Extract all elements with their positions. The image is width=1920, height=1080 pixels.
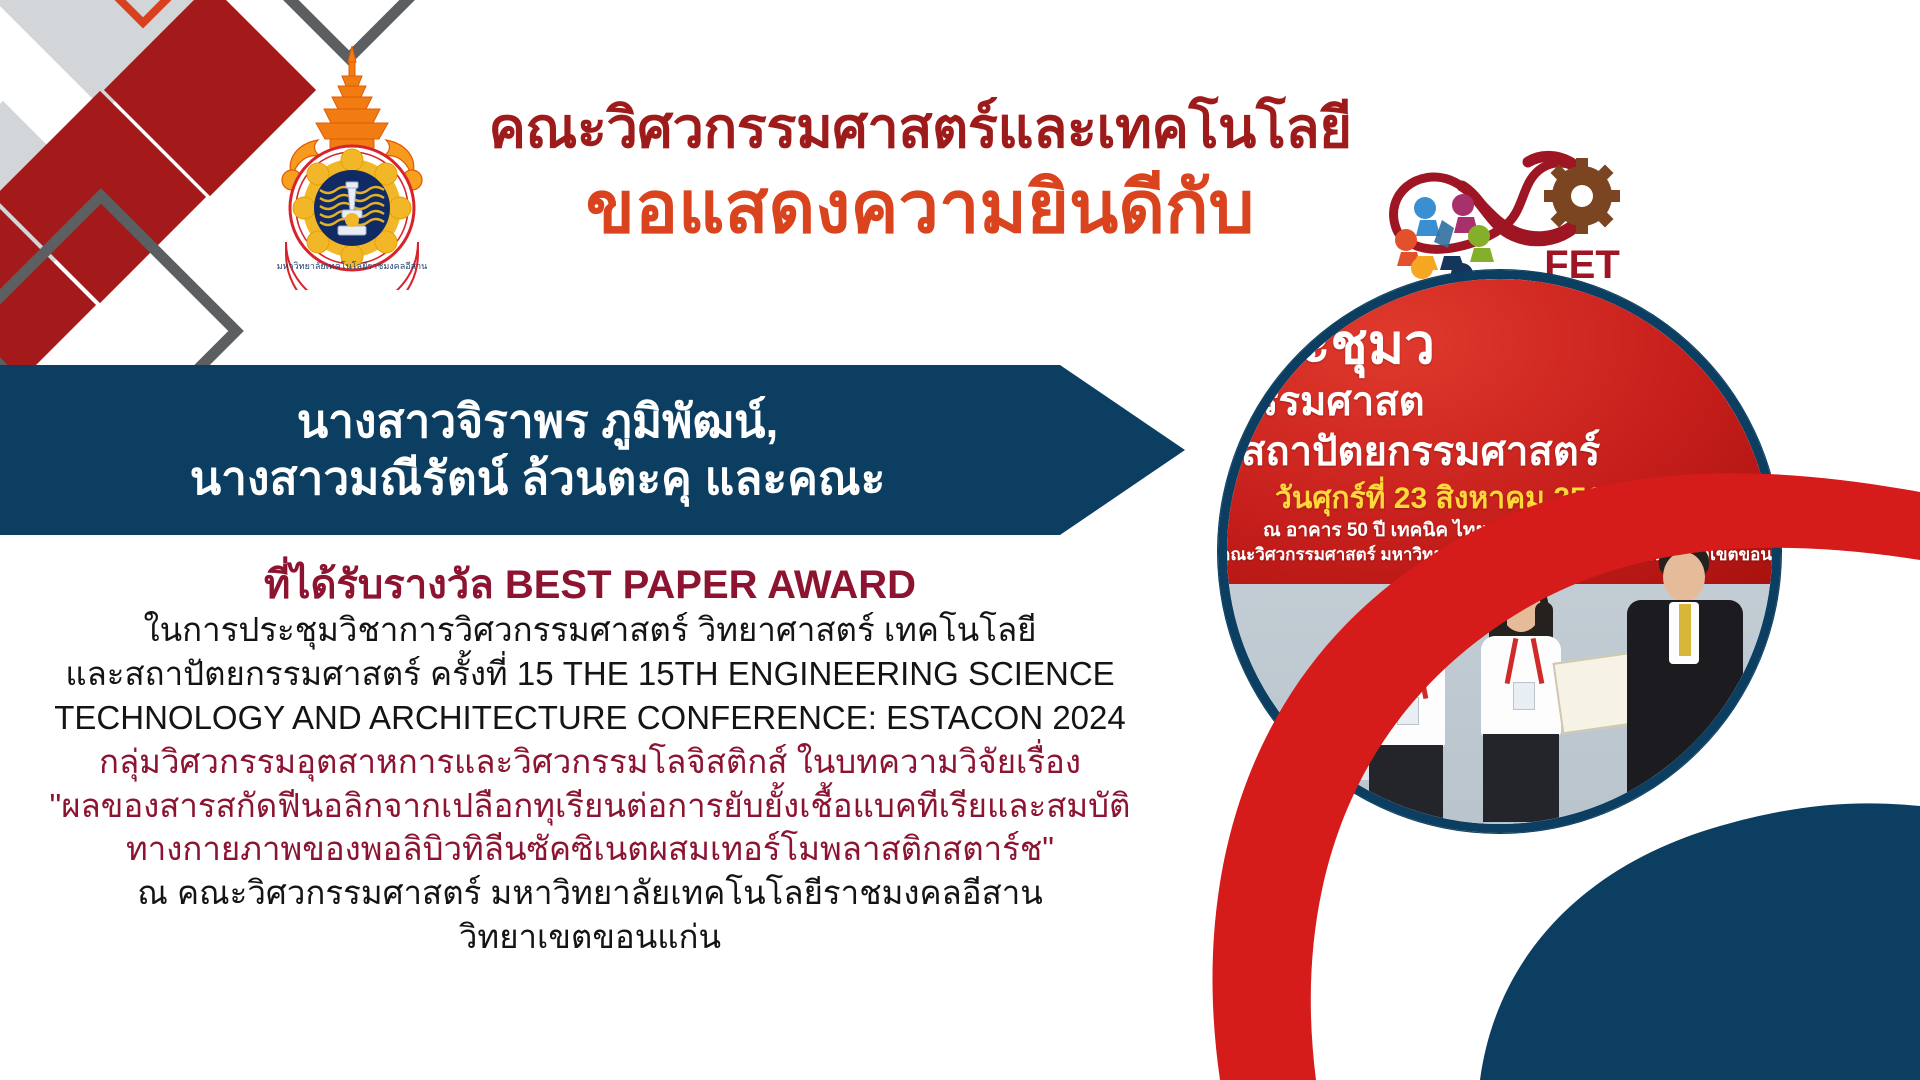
emblem-caption-text: มหาวิทยาลัยเทคโนโลยีราชมงคลอีสาน (277, 261, 428, 271)
backdrop-line-3: ละสถาปัตยกรรมศาสตร์ (1218, 419, 1600, 483)
body-line-5: "ผลของสารสกัดฟีนอลิกจากเปลือกทุเรียนต่อก… (0, 784, 1180, 828)
body-line-6: ทางกายภาพของพอลิบิวทิลีนซัคซิเนตผสมเทอร์… (0, 827, 1180, 871)
person3-head (1663, 552, 1705, 602)
photo-person-presenter (1619, 542, 1755, 824)
photo-conference-backdrop: รประชุมว ศวกรรมศาสต ละสถาปัตยกรรมศาสตร์ … (1227, 279, 1772, 584)
body-line-4: กลุ่มวิศวกรรมอุตสาหการและวิศวกรรมโลจิสติ… (0, 740, 1180, 784)
awardee-name-1: นางสาวจิราพร ภูมิพัฒน์, (297, 393, 889, 451)
headline-block: คณะวิศวกรรมศาสตร์และเทคโนโลยี ขอแสดงความ… (470, 95, 1370, 251)
faculty-title: คณะวิศวกรรมศาสตร์และเทคโนโลยี (470, 95, 1370, 161)
swoosh-navy (1480, 803, 1920, 1080)
person2-skirt (1483, 734, 1559, 822)
body-line-3: TECHNOLOGY AND ARCHITECTURE CONFERENCE: … (0, 696, 1180, 740)
bcc-dot-icon (1285, 704, 1302, 721)
photo-content: รประชุมว ศวกรรมศาสต ละสถาปัตยกรรมศาสตร์ … (1227, 279, 1772, 824)
body-paragraph: ในการประชุมวิชาการวิศวกรรมศาสตร์ วิทยาศา… (0, 608, 1180, 959)
award-ceremony-photo: รประชุมว ศวกรรมศาสต ละสถาปัตยกรรมศาสตร์ … (1218, 270, 1781, 833)
poster-canvas: มหาวิทยาลัยเทคโนโลยีราชมงคลอีสาน คณะวิศว… (0, 0, 1920, 1080)
body-line-1: ในการประชุมวิชาการวิศวกรรมศาสตร์ วิทยาศา… (0, 608, 1180, 652)
person1-badge (1397, 697, 1419, 725)
congratulations-title: ขอแสดงความยินดีกับ (470, 165, 1370, 251)
person1-skirt (1369, 745, 1443, 825)
rmuti-emblem-logo: มหาวิทยาลัยเทคโนโลยีราชมงคลอีสาน (262, 40, 442, 290)
person3-tie (1679, 604, 1691, 656)
body-line-2: และสถาปัตยกรรมศาสตร์ ครั้งที่ 15 THE 15T… (0, 652, 1180, 696)
awardee-names-banner: นางสาวจิราพร ภูมิพัฒน์, นางสาวมณีรัตน์ ล… (0, 365, 1185, 535)
body-line-8: วิทยาเขตขอนแก่น (0, 915, 1180, 959)
photo-person-student-1 (1345, 589, 1465, 824)
award-title: ที่ได้รับรางวัล BEST PAPER AWARD (0, 552, 1180, 616)
body-line-7: ณ คณะวิศวกรรมศาสตร์ มหาวิทยาลัยเทคโนโลยี… (0, 871, 1180, 915)
awardee-name-2: นางสาวมณีรัตน์ ล้วนตะคุ และคณะ (190, 450, 996, 508)
gear-icon (1544, 158, 1620, 234)
person2-badge (1513, 682, 1535, 710)
